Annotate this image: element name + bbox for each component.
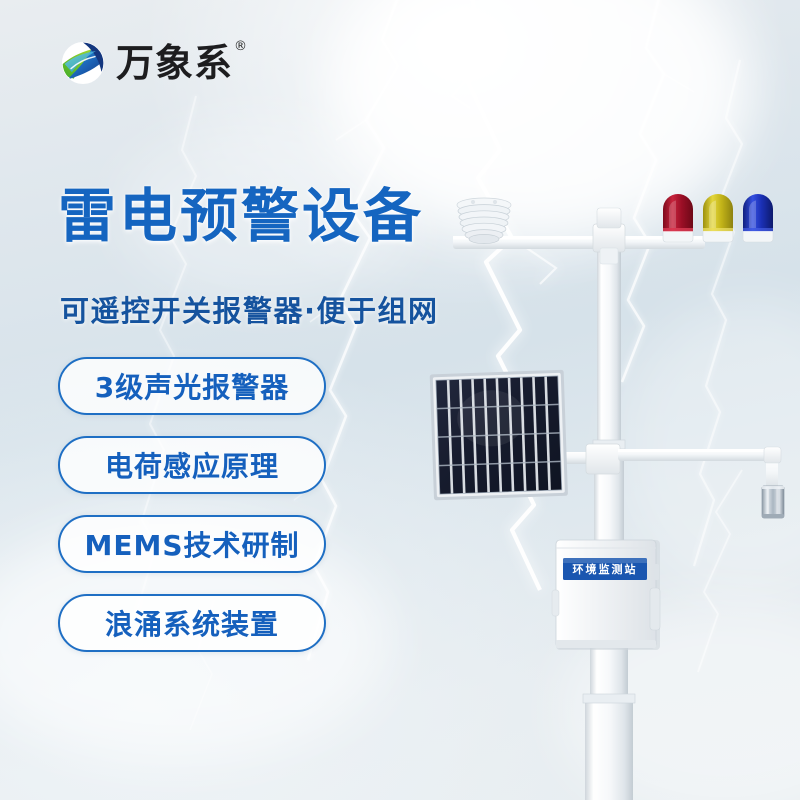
feature-pill-1[interactable]: 3级声光报警器 [58,357,326,415]
page-subtitle: 可遥控开关报警器·便于组网 [60,288,439,330]
brand-logo: 万象系 ® [60,40,233,86]
brand-name-wrap: 万象系 ® [116,44,233,82]
swirl-globe-icon [60,40,106,86]
feature-pill-2[interactable]: 电荷感应原理 [58,436,326,494]
lightning-bolt-main [452,0,556,590]
registered-mark: ® [234,40,248,53]
feature-pill-4[interactable]: 浪涌系统装置 [58,594,326,652]
beacon-light-yellow [703,194,733,242]
beacon-light-red [663,194,693,242]
control-box [552,540,660,650]
lightning-bolt-far-right [694,60,742,566]
cloud-wash [560,600,800,800]
lightning-detector-sensor [762,486,784,518]
cloud-wash [620,300,800,600]
product-poster: 环境监测站 [0,0,800,800]
page-title: 雷电预警设备 [58,186,424,247]
mast-pole [583,232,635,800]
control-box-label: 环境监测站 [563,558,647,580]
brand-name: 万象系 [116,41,233,85]
feature-pill-3[interactable]: MEMS技术研制 [58,515,326,573]
beacon-light-blue [743,194,773,242]
feature-list: 3级声光报警器 电荷感应原理 MEMS技术研制 浪涌系统装置 [58,357,326,652]
lightning-detector-arm [618,447,784,518]
solar-panel [430,370,620,501]
lightning-bolt-right [622,0,694,382]
radiation-shield-sensor [457,198,511,244]
top-cross-arm [453,208,705,264]
